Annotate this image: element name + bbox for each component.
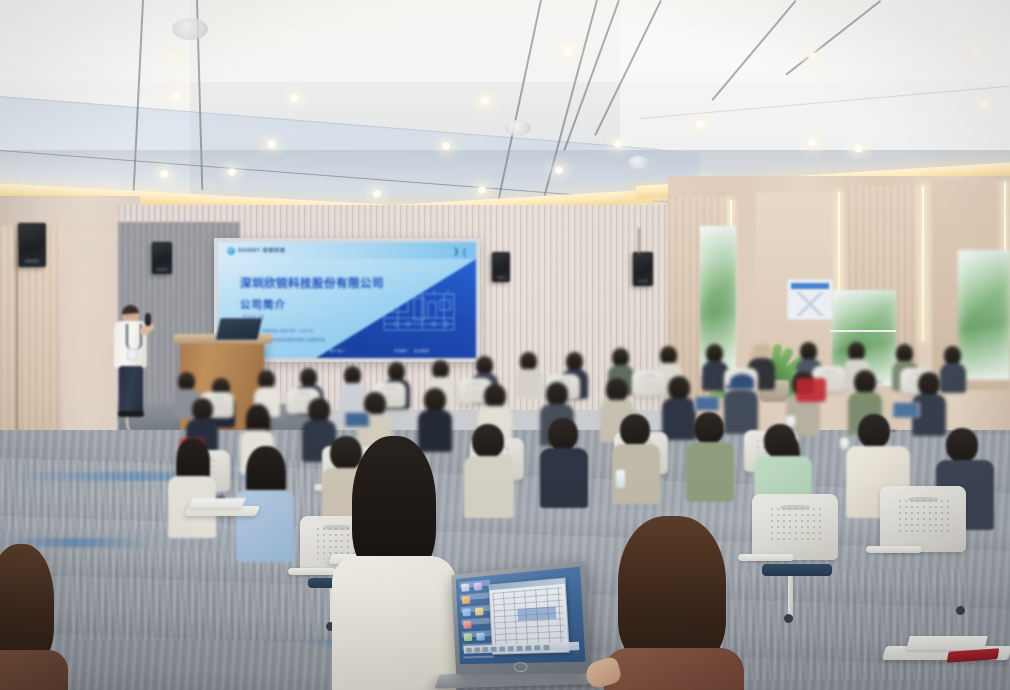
notebook[interactable] — [906, 636, 987, 650]
window-right — [958, 250, 1010, 380]
presenter-shoes — [118, 411, 144, 417]
circuit-board-graphic — [378, 284, 462, 338]
company-logo-icon — [227, 247, 235, 255]
laptop-lid[interactable] — [451, 561, 592, 675]
slide-footer-right: 市场推广 · 技术服务 — [394, 348, 430, 353]
hp-logo-icon — [513, 662, 527, 672]
company-logo-text: SHINRY 欣锐科技 — [238, 247, 286, 254]
slide-subtitle: 公司简介 — [240, 297, 286, 312]
microphone — [145, 313, 151, 326]
torso — [604, 648, 744, 690]
led-strip-3 — [922, 186, 924, 341]
presenter-legs — [119, 366, 143, 414]
presenter-lanyard — [126, 324, 142, 350]
slide-footer-left: 新产品上 — [330, 348, 346, 353]
khaki-cap — [752, 344, 772, 357]
speaker-cable-right — [638, 228, 640, 254]
laptop-middle-2 — [694, 396, 720, 411]
papers-on-tablet-arm[interactable] — [188, 498, 246, 508]
conference-room-photo: SHINRY 欣锐科技 》( 深圳欣锐科技股份有限公司 公司简介 2024.08… — [0, 0, 1010, 690]
paper-cup-2 — [840, 438, 849, 449]
speaker-stage-right — [492, 252, 510, 282]
podium-laptop — [216, 318, 263, 340]
window-frame — [830, 330, 896, 332]
navy-cap — [730, 374, 754, 389]
foreground-laptop[interactable] — [438, 568, 602, 690]
slide-title: 深圳欣锐科技股份有限公司 — [240, 275, 384, 291]
hair — [618, 516, 726, 666]
laptop-display[interactable] — [456, 567, 586, 665]
speaker-left-wall — [18, 223, 46, 267]
speaker-stage-left — [152, 242, 172, 274]
laptop-middle-1 — [344, 412, 370, 427]
water-bottle-2[interactable] — [616, 470, 625, 488]
selected-cells[interactable] — [517, 606, 556, 621]
presenter-badge — [127, 349, 137, 360]
speaker-right-wall — [633, 252, 653, 286]
hair — [0, 544, 54, 664]
laptop-middle-3 — [892, 402, 920, 418]
torso — [0, 650, 68, 690]
slide-corner-mark: 》( — [454, 245, 466, 258]
